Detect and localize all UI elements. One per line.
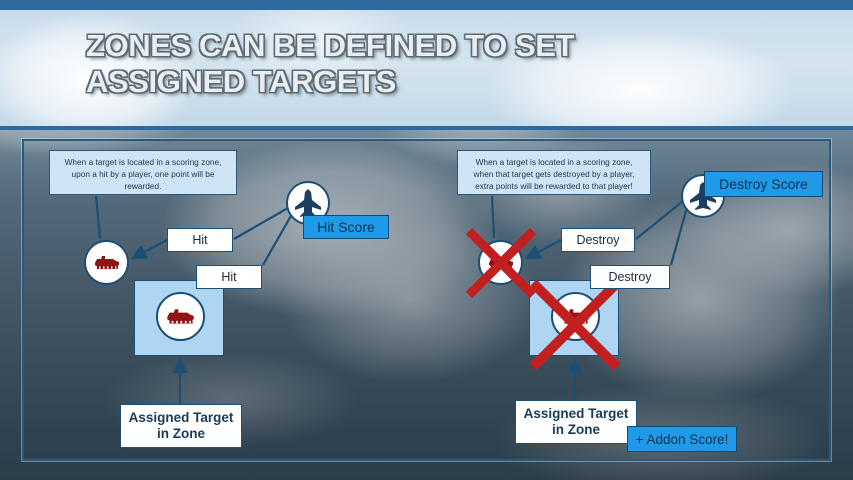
zone-label-left-line-2: in Zone bbox=[157, 426, 205, 442]
badge-destroy-score: Destroy Score bbox=[704, 171, 823, 197]
header-divider-rule bbox=[0, 126, 853, 130]
label-hit-unzoned: Hit bbox=[167, 228, 233, 252]
top-accent-bar bbox=[0, 0, 853, 10]
tank-target-icon bbox=[559, 307, 592, 327]
page-title-line-2: ASSIGNED TARGETS bbox=[86, 64, 786, 100]
slide-canvas: ZONES CAN BE DEFINED TO SET ASSIGNED TAR… bbox=[0, 0, 853, 480]
zone-label-left: Assigned Target in Zone bbox=[120, 404, 242, 448]
badge-hit-score: Hit Score bbox=[303, 215, 389, 239]
badge-addon-score: + Addon Score! bbox=[627, 426, 737, 452]
description-box-right: When a target is located in a scoring zo… bbox=[457, 150, 651, 195]
zone-label-right-line-2: in Zone bbox=[552, 422, 600, 438]
zone-label-right: Assigned Target in Zone bbox=[515, 400, 637, 444]
page-title: ZONES CAN BE DEFINED TO SET ASSIGNED TAR… bbox=[86, 28, 786, 100]
page-title-line-1: ZONES CAN BE DEFINED TO SET bbox=[86, 28, 786, 64]
tank-target-icon bbox=[92, 254, 122, 272]
fighter-jet-icon bbox=[292, 188, 324, 218]
target-icon-in-zone-right bbox=[551, 292, 600, 341]
zone-label-left-line-1: Assigned Target bbox=[129, 410, 234, 426]
tank-target-icon bbox=[164, 307, 197, 327]
tank-target-icon bbox=[486, 254, 516, 272]
target-icon-in-zone-left bbox=[156, 292, 205, 341]
label-destroy-in-zone: Destroy bbox=[590, 265, 670, 289]
target-icon-unzoned-right bbox=[478, 240, 523, 285]
description-box-left: When a target is located in a scoring zo… bbox=[49, 150, 237, 195]
label-destroy-unzoned: Destroy bbox=[561, 228, 635, 252]
target-icon-unzoned-left bbox=[84, 240, 129, 285]
label-hit-in-zone: Hit bbox=[196, 265, 262, 289]
zone-label-right-line-1: Assigned Target bbox=[524, 406, 629, 422]
